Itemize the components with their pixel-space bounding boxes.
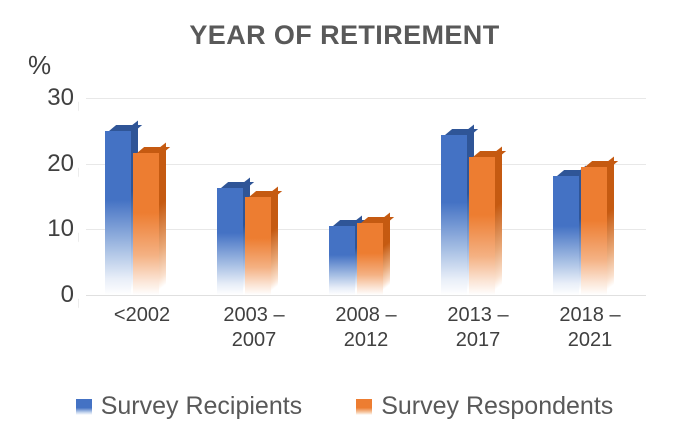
chart-container: YEAR OF RETIREMENT % 3020100 <20022003 –… — [0, 0, 689, 448]
legend-item-recipients[interactable]: Survey Recipients — [76, 392, 302, 421]
y-tick-10: 10 — [26, 215, 74, 243]
y-axis-tick-labels: 3020100 — [22, 98, 74, 295]
bar-group — [86, 98, 184, 295]
legend-swatch-icon — [356, 399, 372, 415]
y-tick-0: 0 — [26, 281, 74, 309]
bar-recipients[interactable] — [217, 188, 243, 295]
chart-title: YEAR OF RETIREMENT — [0, 20, 689, 51]
x-category-label: 2018 –2021 — [538, 303, 642, 353]
x-category-label: 2003 –2007 — [202, 303, 306, 353]
bar-respondents[interactable] — [245, 197, 271, 296]
x-category-label: 2013 –2017 — [426, 303, 530, 353]
y-axis-unit-label: % — [28, 50, 51, 81]
legend-swatch-icon — [76, 399, 92, 415]
y-tick-20: 20 — [26, 150, 74, 178]
gridline-0 — [86, 295, 646, 296]
legend-label: Survey Recipients — [101, 392, 302, 421]
x-category-label: <2002 — [90, 303, 194, 328]
bar-recipients[interactable] — [329, 226, 355, 295]
bar-recipients[interactable] — [105, 131, 131, 295]
legend-item-respondents[interactable]: Survey Respondents — [356, 392, 613, 421]
bar-groups — [86, 98, 646, 295]
x-category-label: 2008 –2012 — [314, 303, 418, 353]
bar-group — [422, 98, 520, 295]
x-axis-category-labels: <20022003 –20072008 –20122013 –20172018 … — [86, 303, 646, 363]
bar-recipients[interactable] — [441, 135, 467, 295]
bar-respondents[interactable] — [469, 157, 495, 295]
bar-recipients[interactable] — [553, 176, 579, 296]
bar-group — [534, 98, 632, 295]
y-tick-30: 30 — [26, 84, 74, 112]
bar-respondents[interactable] — [581, 167, 607, 295]
bar-group — [198, 98, 296, 295]
bar-respondents[interactable] — [357, 223, 383, 295]
bar-group — [310, 98, 408, 295]
chart-legend: Survey RecipientsSurvey Respondents — [0, 392, 689, 421]
bar-respondents[interactable] — [133, 153, 159, 295]
legend-label: Survey Respondents — [381, 392, 613, 421]
